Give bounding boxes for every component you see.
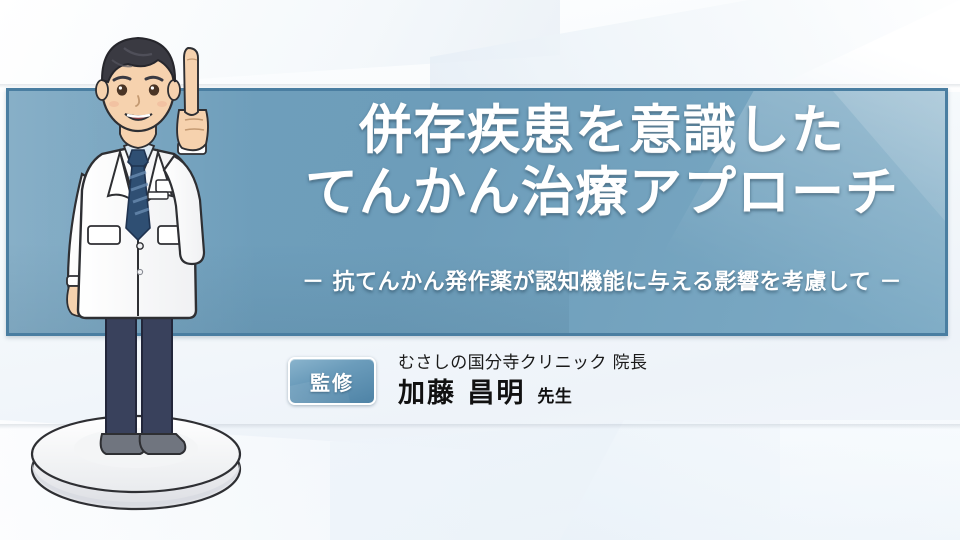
background-facet-bottom-corner bbox=[780, 420, 960, 540]
supervision-badge-label: 監修 bbox=[310, 367, 354, 396]
supervisor-honorific: 先生 bbox=[537, 382, 572, 407]
supervisor-name-row: 加藤 昌明 先生 bbox=[398, 378, 647, 410]
page-title: 併存疾患を意識した てんかん治療アプローチ bbox=[262, 100, 942, 224]
supervisor-credit: 監修 むさしの国分寺クリニック 院長 加藤 昌明 先生 bbox=[288, 352, 647, 410]
supervisor-affiliation: むさしの国分寺クリニック 院長 bbox=[398, 352, 647, 374]
title-line-2: てんかん治療アプローチ bbox=[262, 162, 942, 224]
supervision-badge: 監修 bbox=[288, 357, 376, 405]
title-line-1: 併存疾患を意識した bbox=[262, 100, 942, 162]
supervisor-name: 加藤 昌明 bbox=[398, 378, 525, 410]
supervisor-details: むさしの国分寺クリニック 院長 加藤 昌明 先生 bbox=[398, 352, 647, 410]
head-icon bbox=[96, 38, 180, 148]
doctor-pointing-illustration bbox=[28, 14, 258, 514]
shoes-icon bbox=[101, 434, 186, 454]
slide-canvas: 併存疾患を意識した てんかん治療アプローチ － 抗てんかん発作薬が認知機能に与え… bbox=[0, 0, 960, 540]
page-subtitle: － 抗てんかん発作薬が認知機能に与える影響を考慮して － bbox=[262, 268, 942, 298]
